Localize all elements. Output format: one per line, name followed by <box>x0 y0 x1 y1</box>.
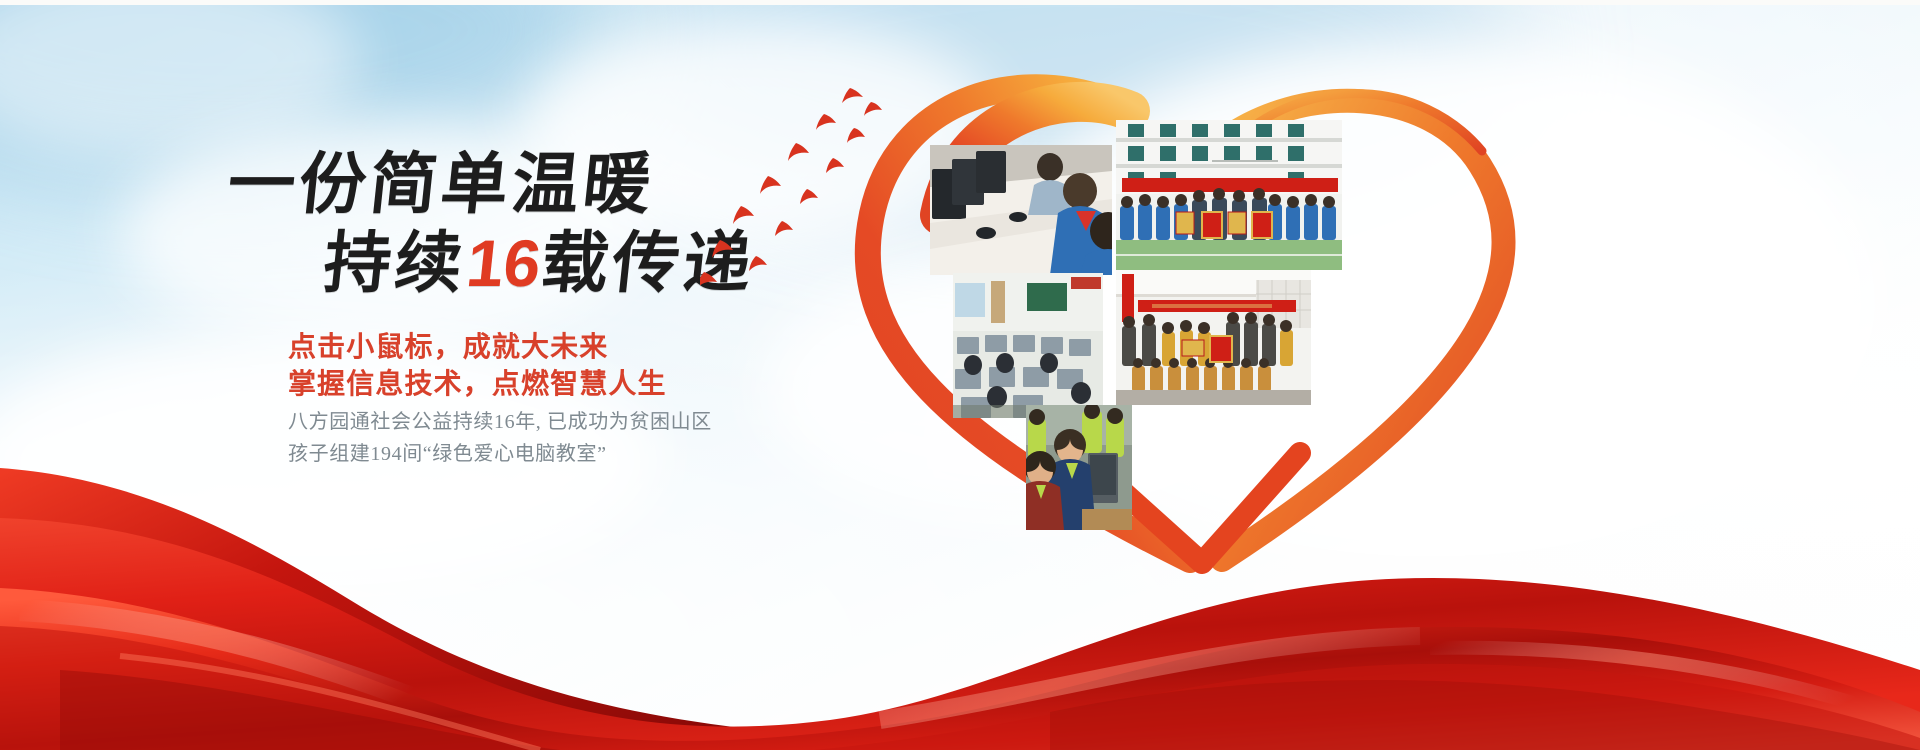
promo-banner: 一份简单温暖 持续16载传递 点击小鼠标，成就大未来 掌握信息技术，点燃智慧人生… <box>0 0 1920 750</box>
photo-students-computer-row[interactable] <box>930 145 1112 275</box>
photo-classroom-overview[interactable] <box>953 273 1103 418</box>
photo-group-donation-court[interactable] <box>1116 120 1342 270</box>
headline-line-2-prefix: 持续 <box>320 227 470 301</box>
headline-line-1: 一份简单温暖 <box>224 152 657 219</box>
headline-line-2: 持续16载传递 <box>320 230 758 298</box>
red-silk-ribbon <box>0 420 1920 750</box>
photo-group-donation-indoor[interactable] <box>1116 270 1311 405</box>
headline-year-count: 16 <box>462 226 545 300</box>
top-edge-strip <box>0 0 1920 5</box>
